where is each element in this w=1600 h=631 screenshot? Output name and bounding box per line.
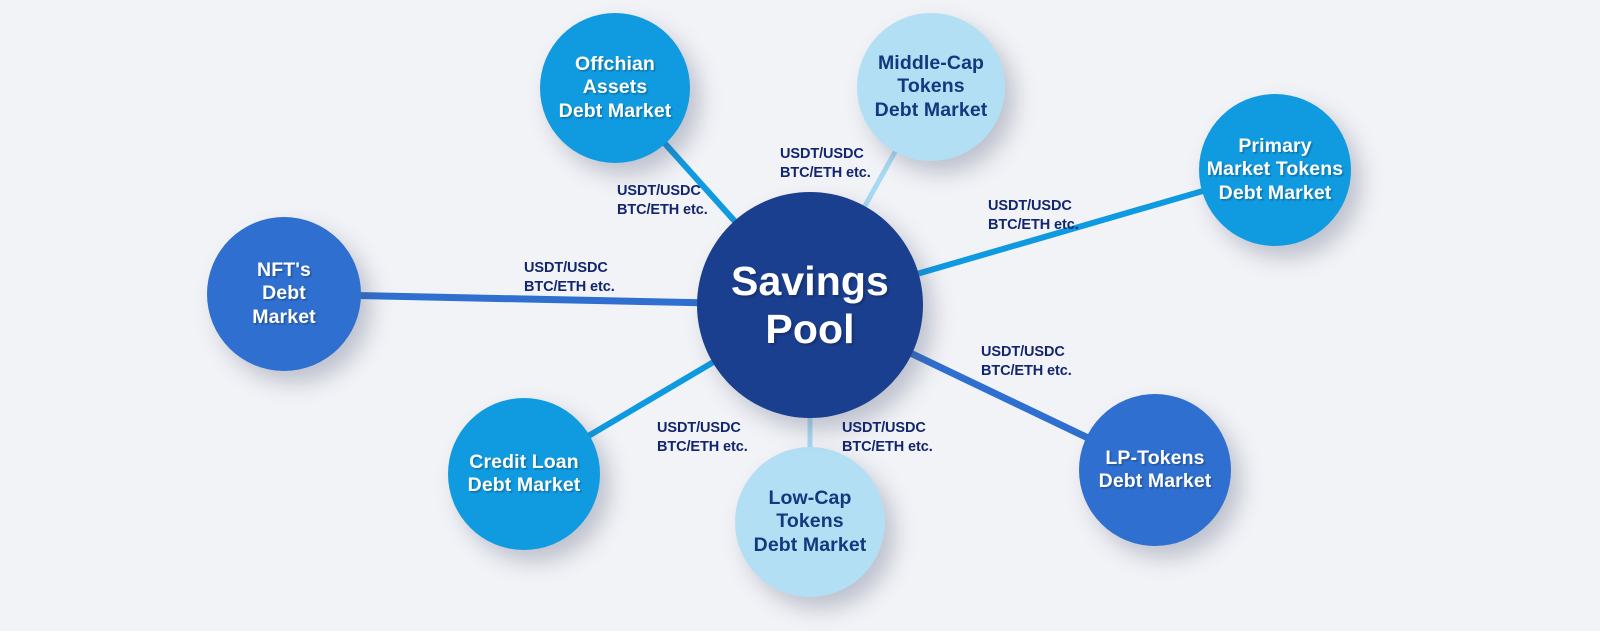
node-label-low-cap-tokens-debt-market: Low-CapTokensDebt Market [748, 487, 873, 557]
edge-label-credit-loan-debt-market: USDT/USDCBTC/ETH etc. [657, 419, 748, 457]
edge-label-line2: BTC/ETH etc. [657, 438, 748, 457]
node-label-offchian-assets-debt-market: OffchianAssetsDebt Market [553, 53, 678, 123]
edge-label-offchian-assets-debt-market: USDT/USDCBTC/ETH etc. [617, 182, 708, 220]
node-savings-pool[interactable]: SavingsPool [697, 192, 923, 418]
edge-label-low-cap-tokens-debt-market: USDT/USDCBTC/ETH etc. [842, 419, 933, 457]
node-label-nfts-debt-market: NFT'sDebtMarket [246, 259, 321, 329]
diagram-canvas: OffchianAssetsDebt MarketMiddle-CapToken… [0, 0, 1600, 631]
node-lp-tokens-debt-market[interactable]: LP-TokensDebt Market [1079, 394, 1231, 546]
node-nfts-debt-market[interactable]: NFT'sDebtMarket [207, 217, 361, 371]
edge-label-line1: USDT/USDC [617, 182, 708, 201]
edge-label-line2: BTC/ETH etc. [780, 164, 871, 183]
node-primary-market-tokens-debt-market[interactable]: PrimaryMarket TokensDebt Market [1199, 94, 1351, 246]
edge-label-nfts-debt-market: USDT/USDCBTC/ETH etc. [524, 259, 615, 297]
edge-label-line1: USDT/USDC [981, 343, 1072, 362]
node-label-credit-loan-debt-market: Credit LoanDebt Market [462, 451, 587, 498]
edge-label-line1: USDT/USDC [780, 145, 871, 164]
node-credit-loan-debt-market[interactable]: Credit LoanDebt Market [448, 398, 600, 550]
edge-label-primary-market-tokens-debt-market: USDT/USDCBTC/ETH etc. [988, 197, 1079, 235]
node-middle-cap-tokens-debt-market[interactable]: Middle-CapTokensDebt Market [857, 13, 1005, 161]
edge-label-line2: BTC/ETH etc. [981, 362, 1072, 381]
edge-label-line2: BTC/ETH etc. [842, 438, 933, 457]
edge-label-line1: USDT/USDC [524, 259, 615, 278]
edge-label-line1: USDT/USDC [988, 197, 1079, 216]
edge-label-line1: USDT/USDC [842, 419, 933, 438]
edge-label-middle-cap-tokens-debt-market: USDT/USDCBTC/ETH etc. [780, 145, 871, 183]
node-label-lp-tokens-debt-market: LP-TokensDebt Market [1093, 447, 1218, 494]
edge-label-lp-tokens-debt-market: USDT/USDCBTC/ETH etc. [981, 343, 1072, 381]
edge-label-line2: BTC/ETH etc. [988, 216, 1079, 235]
edge-label-line2: BTC/ETH etc. [524, 278, 615, 297]
node-low-cap-tokens-debt-market[interactable]: Low-CapTokensDebt Market [735, 447, 885, 597]
edge-label-line1: USDT/USDC [657, 419, 748, 438]
node-label-savings-pool: SavingsPool [725, 257, 895, 354]
edge-label-line2: BTC/ETH etc. [617, 201, 708, 220]
node-label-primary-market-tokens-debt-market: PrimaryMarket TokensDebt Market [1201, 135, 1349, 205]
node-label-middle-cap-tokens-debt-market: Middle-CapTokensDebt Market [869, 52, 994, 122]
node-offchian-assets-debt-market[interactable]: OffchianAssetsDebt Market [540, 13, 690, 163]
